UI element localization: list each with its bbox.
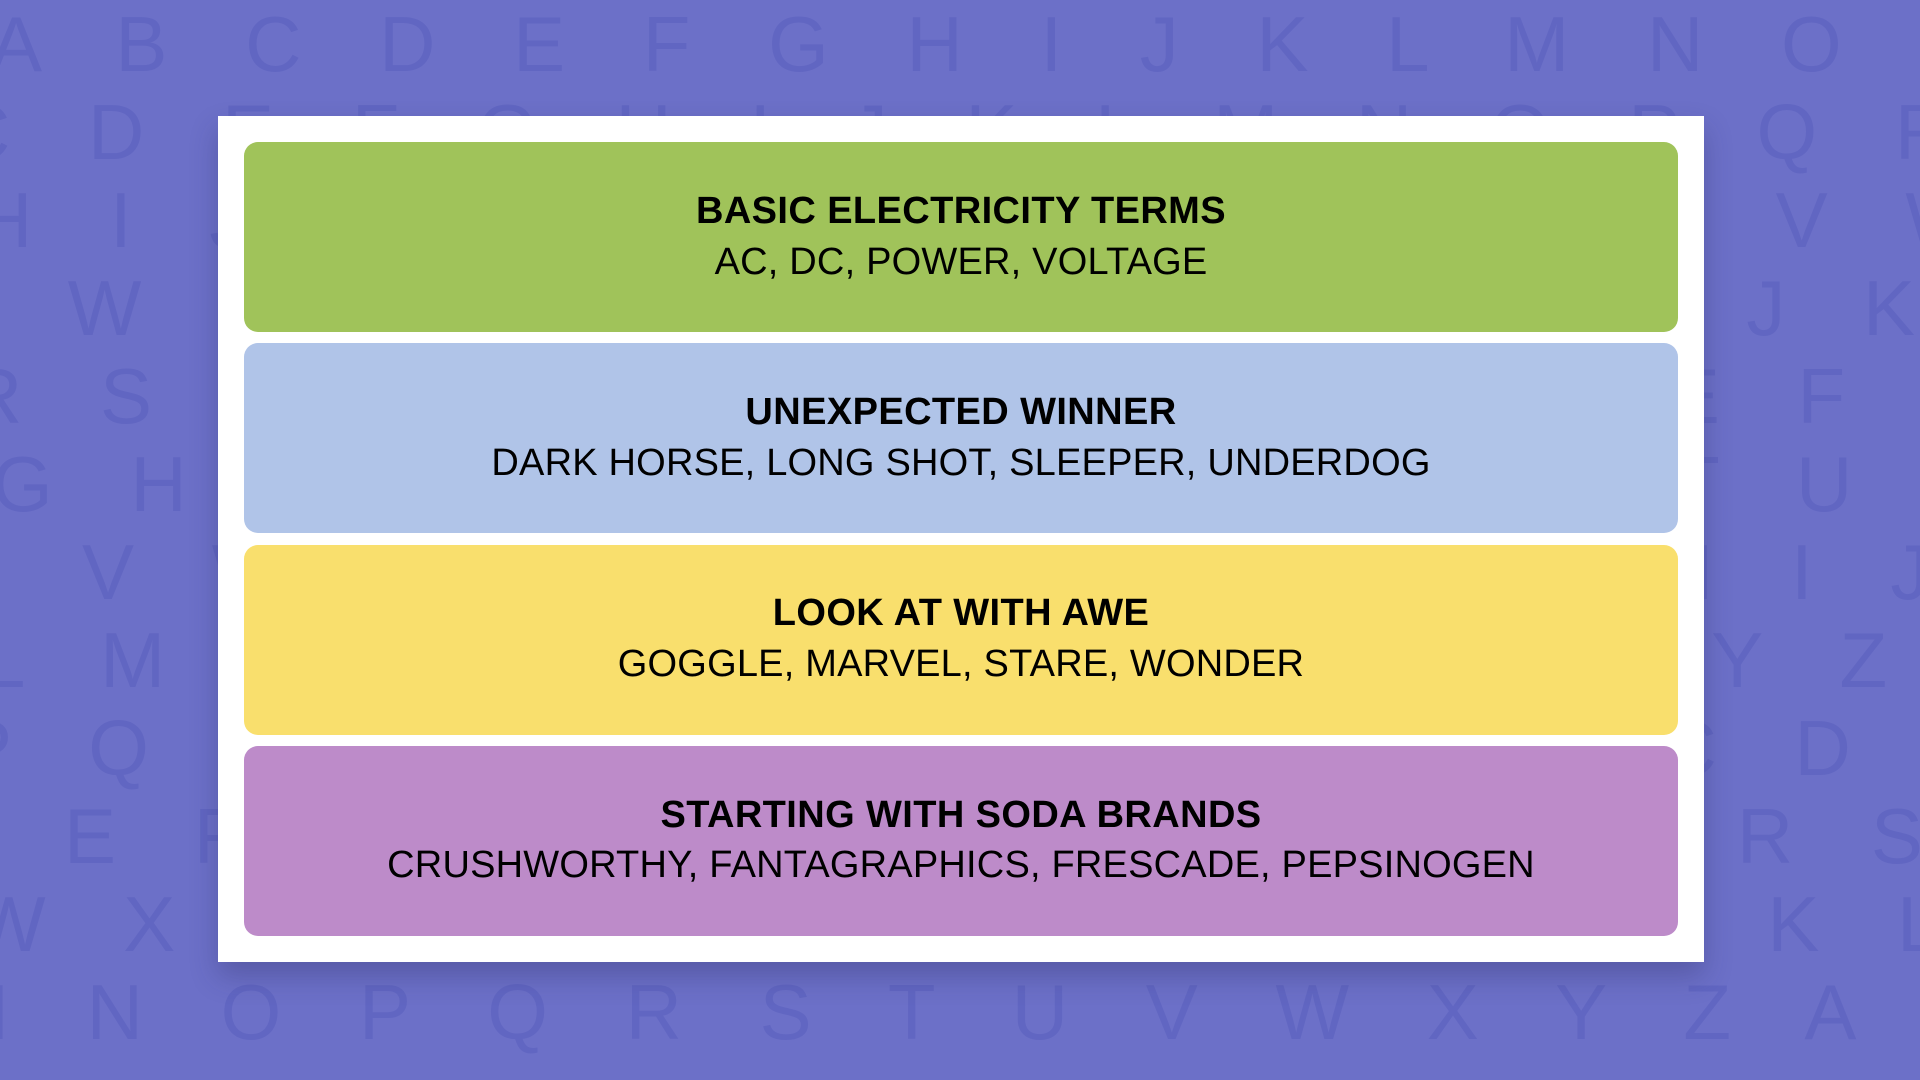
category-title: LOOK AT WITH AWE [773,592,1150,636]
background-letter-row: M N O P Q R S T U V W X Y Z A B C D E F … [0,968,1864,1056]
category-row-4[interactable]: STARTING WITH SODA BRANDS CRUSHWORTHY, F… [244,746,1678,936]
category-row-2[interactable]: UNEXPECTED WINNER DARK HORSE, LONG SHOT,… [244,343,1678,533]
connections-answer-card: BASIC ELECTRICITY TERMS AC, DC, POWER, V… [218,116,1704,962]
category-title: UNEXPECTED WINNER [745,391,1176,435]
category-words: DARK HORSE, LONG SHOT, SLEEPER, UNDERDOG [491,442,1430,486]
screenshot-stage: A B C D E F G H I J K L M N O P Q R S T … [0,0,1920,1080]
category-words: AC, DC, POWER, VOLTAGE [715,241,1208,285]
background-letter-row: A B C D E F G H I J K L M N O P Q R S T … [0,0,1910,88]
category-title: STARTING WITH SODA BRANDS [660,794,1261,838]
category-words: GOGGLE, MARVEL, STARE, WONDER [618,643,1304,687]
category-title: BASIC ELECTRICITY TERMS [696,190,1226,234]
category-row-1[interactable]: BASIC ELECTRICITY TERMS AC, DC, POWER, V… [244,142,1678,332]
category-words: CRUSHWORTHY, FANTAGRAPHICS, FRESCADE, PE… [387,844,1535,888]
category-row-3[interactable]: LOOK AT WITH AWE GOGGLE, MARVEL, STARE, … [244,545,1678,735]
